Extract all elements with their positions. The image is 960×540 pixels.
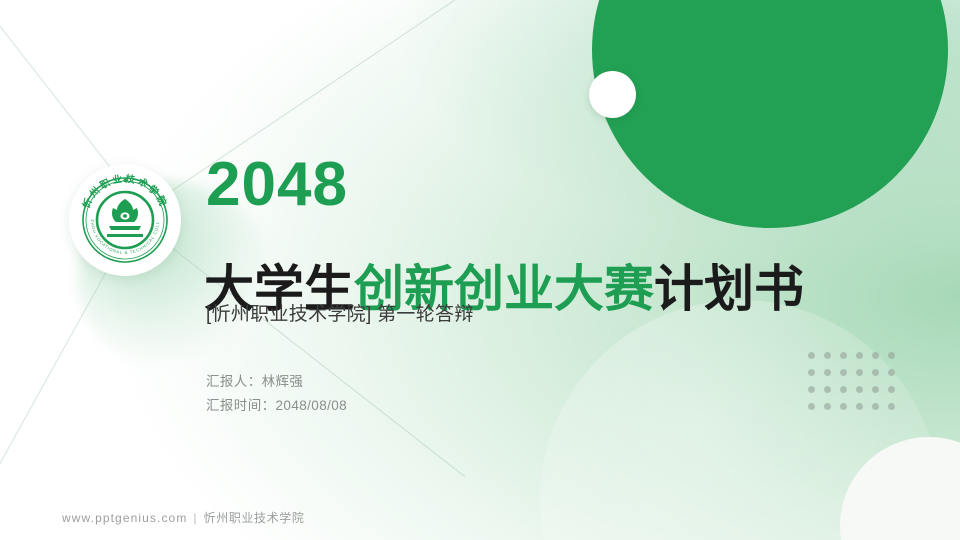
grid-dot [888,352,895,359]
grid-dot [824,403,831,410]
presentation-slide: 忻州职业技术学院 XINZHOU VOCATIONAL & TECHNICAL … [0,0,960,540]
grid-dot [872,403,879,410]
grid-dot [872,369,879,376]
grid-dot [840,369,847,376]
slide-meta: 汇报人：林辉强 汇报时间：2048/08/08 [206,370,347,418]
grid-dot [808,386,815,393]
slide-year: 2048 [206,154,348,216]
grid-dot [808,352,815,359]
grid-dot [808,369,815,376]
footer-website: www.pptgenius.com [62,511,187,525]
slide-subtitle: [忻州职业技术学院] 第一轮答辩 [206,303,474,328]
footer-separator: | [193,511,197,525]
grid-dot [888,403,895,410]
report-date-line: 汇报时间：2048/08/08 [206,394,347,418]
grid-dot [856,369,863,376]
footer-organization: 忻州职业技术学院 [204,511,305,525]
headline-tail: 计划书 [654,261,804,317]
decorative-dot-grid [808,352,904,420]
presenter-line: 汇报人：林辉强 [206,370,347,394]
grid-dot [824,352,831,359]
grid-dot [808,403,815,410]
decorative-white-dot-circle [589,71,636,118]
university-logo: 忻州职业技术学院 XINZHOU VOCATIONAL & TECHNICAL … [69,164,181,276]
grid-dot [824,369,831,376]
grid-dot [856,386,863,393]
grid-dot [840,386,847,393]
university-seal-icon: 忻州职业技术学院 XINZHOU VOCATIONAL & TECHNICAL … [73,168,177,272]
grid-dot [888,386,895,393]
grid-dot [872,352,879,359]
grid-dot [872,386,879,393]
grid-dot [840,352,847,359]
grid-dot [888,369,895,376]
slide-footer: www.pptgenius.com|忻州职业技术学院 [62,509,304,526]
grid-dot [824,386,831,393]
grid-dot [856,403,863,410]
grid-dot [840,403,847,410]
grid-dot [856,352,863,359]
